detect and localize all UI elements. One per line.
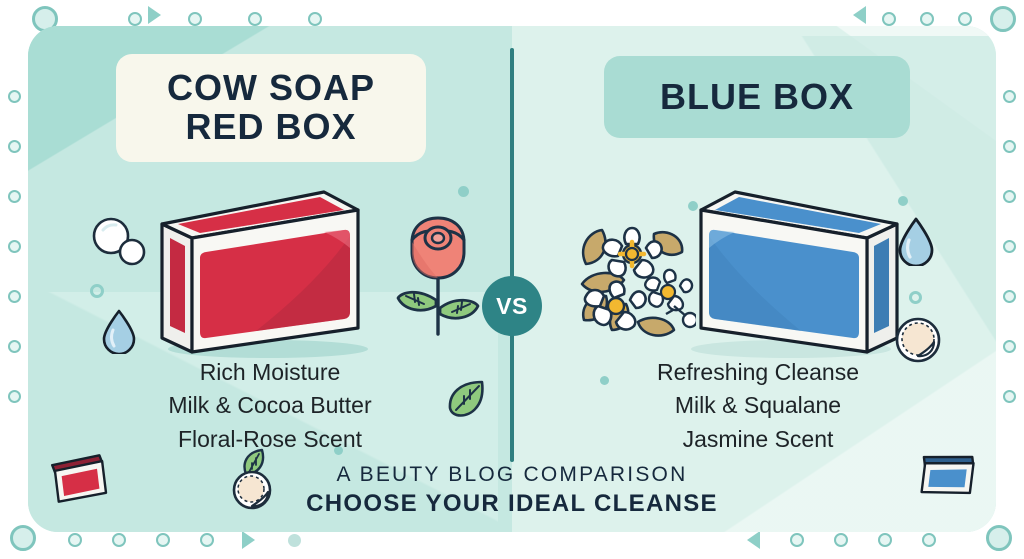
left-title-line1: COW SOAP (167, 69, 375, 108)
circle-dot-icon (882, 12, 896, 26)
play-triangle-left-icon (853, 6, 866, 24)
list-item: Milk & Squalane (558, 389, 958, 422)
circle-dot-icon (200, 533, 214, 547)
circle-dot-icon (1003, 340, 1016, 353)
circle-dot-icon (1003, 290, 1016, 303)
play-triangle-right-icon (242, 531, 255, 549)
left-product-title: COW SOAP RED BOX (116, 54, 426, 162)
circle-dot-icon (8, 290, 21, 303)
circle-dot-icon (834, 533, 848, 547)
circle-dot-icon (1003, 90, 1016, 103)
circle-dot-icon (248, 12, 262, 26)
list-item: Rich Moisture (70, 356, 470, 389)
small-ring-icon (90, 284, 104, 298)
versus-badge: VS (482, 276, 542, 336)
circle-dot-icon (790, 533, 804, 547)
circle-dot-icon (308, 12, 322, 26)
circle-dot-icon (1003, 190, 1016, 203)
rose-flower-icon (388, 212, 488, 342)
accent-dot (458, 186, 469, 197)
right-feature-list: Refreshing Cleanse Milk & Squalane Jasmi… (558, 356, 958, 456)
circle-dot-icon (1003, 240, 1016, 253)
list-item: Floral-Rose Scent (70, 423, 470, 456)
circle-dot-icon (8, 90, 21, 103)
circle-dot-icon (8, 190, 21, 203)
circle-dot-icon (878, 533, 892, 547)
left-title-line2: RED BOX (185, 108, 356, 147)
water-drop-icon (898, 216, 934, 266)
circle-dot-icon (8, 340, 21, 353)
footer-caption: A BEUTY BLOG COMPARISON CHOOSE YOUR IDEA… (28, 463, 996, 518)
right-product-title: BLUE BOX (604, 56, 910, 138)
comparison-card: VS COW SOAP RED BOX BLUE BOX (28, 26, 996, 532)
panel-divider (510, 48, 514, 462)
right-title-line1: BLUE BOX (660, 78, 854, 117)
play-triangle-left-icon (747, 531, 760, 549)
soap-bar-red-icon (148, 186, 378, 361)
circle-dot-icon (112, 533, 126, 547)
circle-dot-icon (8, 240, 21, 253)
circle-dot-icon (920, 12, 934, 26)
footer-subtitle: A BEUTY BLOG COMPARISON (28, 463, 996, 487)
jasmine-flower-icon (576, 218, 696, 348)
circle-dot-icon (1003, 140, 1016, 153)
circle-dot-icon (1003, 390, 1016, 403)
circle-dot-icon (958, 12, 972, 26)
circle-dot-icon (8, 390, 21, 403)
circle-dot-icon (288, 534, 301, 547)
small-ring-icon (909, 291, 922, 304)
circle-dot-icon (188, 12, 202, 26)
soap-bar-blue-icon (681, 186, 911, 361)
list-item: Refreshing Cleanse (558, 356, 958, 389)
infographic-canvas: VS COW SOAP RED BOX BLUE BOX (0, 0, 1024, 559)
circle-dot-icon (68, 533, 82, 547)
list-item: Milk & Cocoa Butter (70, 389, 470, 422)
footer-headline: CHOOSE YOUR IDEAL CLEANSE (28, 490, 996, 518)
circle-dot-icon (922, 533, 936, 547)
left-feature-list: Rich Moisture Milk & Cocoa Butter Floral… (70, 356, 470, 456)
circle-dot-icon (128, 12, 142, 26)
bubbles-icon (88, 214, 150, 276)
circle-dot-icon (156, 533, 170, 547)
list-item: Jasmine Scent (558, 423, 958, 456)
play-triangle-right-icon (148, 6, 161, 24)
water-drop-icon (102, 308, 136, 354)
circle-dot-icon (8, 140, 21, 153)
